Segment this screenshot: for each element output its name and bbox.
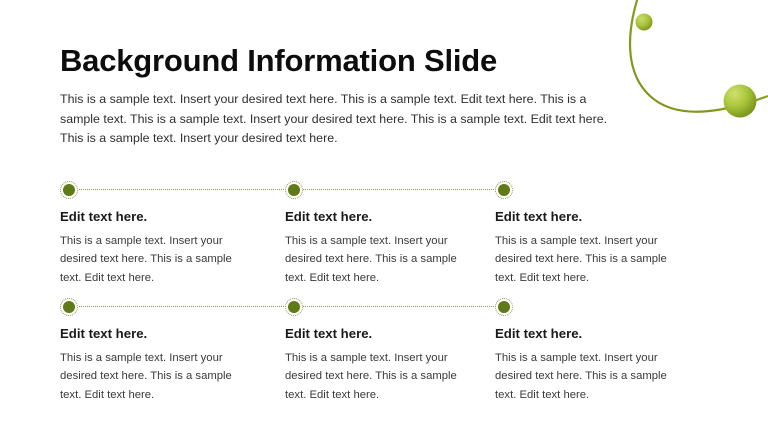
bullet-dot-icon bbox=[285, 181, 303, 199]
card-row-1: Edit text here. This is a sample text. I… bbox=[0, 181, 768, 293]
bullet-dot-icon bbox=[285, 298, 303, 316]
slide-canvas: Background Information Slide This is a s… bbox=[0, 0, 768, 432]
card-heading: Edit text here. bbox=[60, 326, 147, 341]
card-body-text: This is a sample text. Insert your desir… bbox=[285, 232, 461, 287]
arc-path bbox=[630, 0, 768, 112]
intro-paragraph: This is a sample text. Insert your desir… bbox=[60, 90, 608, 149]
page-title: Background Information Slide bbox=[60, 44, 497, 78]
card-body-text: This is a sample text. Insert your desir… bbox=[285, 349, 461, 404]
card-body-text: This is a sample text. Insert your desir… bbox=[495, 232, 671, 287]
card-heading: Edit text here. bbox=[495, 326, 582, 341]
card-body-text: This is a sample text. Insert your desir… bbox=[60, 232, 236, 287]
card-heading: Edit text here. bbox=[60, 209, 147, 224]
bullet-dot-icon bbox=[495, 298, 513, 316]
bullet-dot-icon bbox=[60, 298, 78, 316]
bullet-dot-icon bbox=[495, 181, 513, 199]
card-body-text: This is a sample text. Insert your desir… bbox=[60, 349, 236, 404]
card-row-2: Edit text here. This is a sample text. I… bbox=[0, 298, 768, 410]
bullet-dot-icon bbox=[60, 181, 78, 199]
small-sphere-icon bbox=[636, 14, 653, 31]
card-heading: Edit text here. bbox=[285, 326, 372, 341]
card-body-text: This is a sample text. Insert your desir… bbox=[495, 349, 671, 404]
card-heading: Edit text here. bbox=[285, 209, 372, 224]
card-heading: Edit text here. bbox=[495, 209, 582, 224]
large-sphere-icon bbox=[724, 85, 757, 118]
